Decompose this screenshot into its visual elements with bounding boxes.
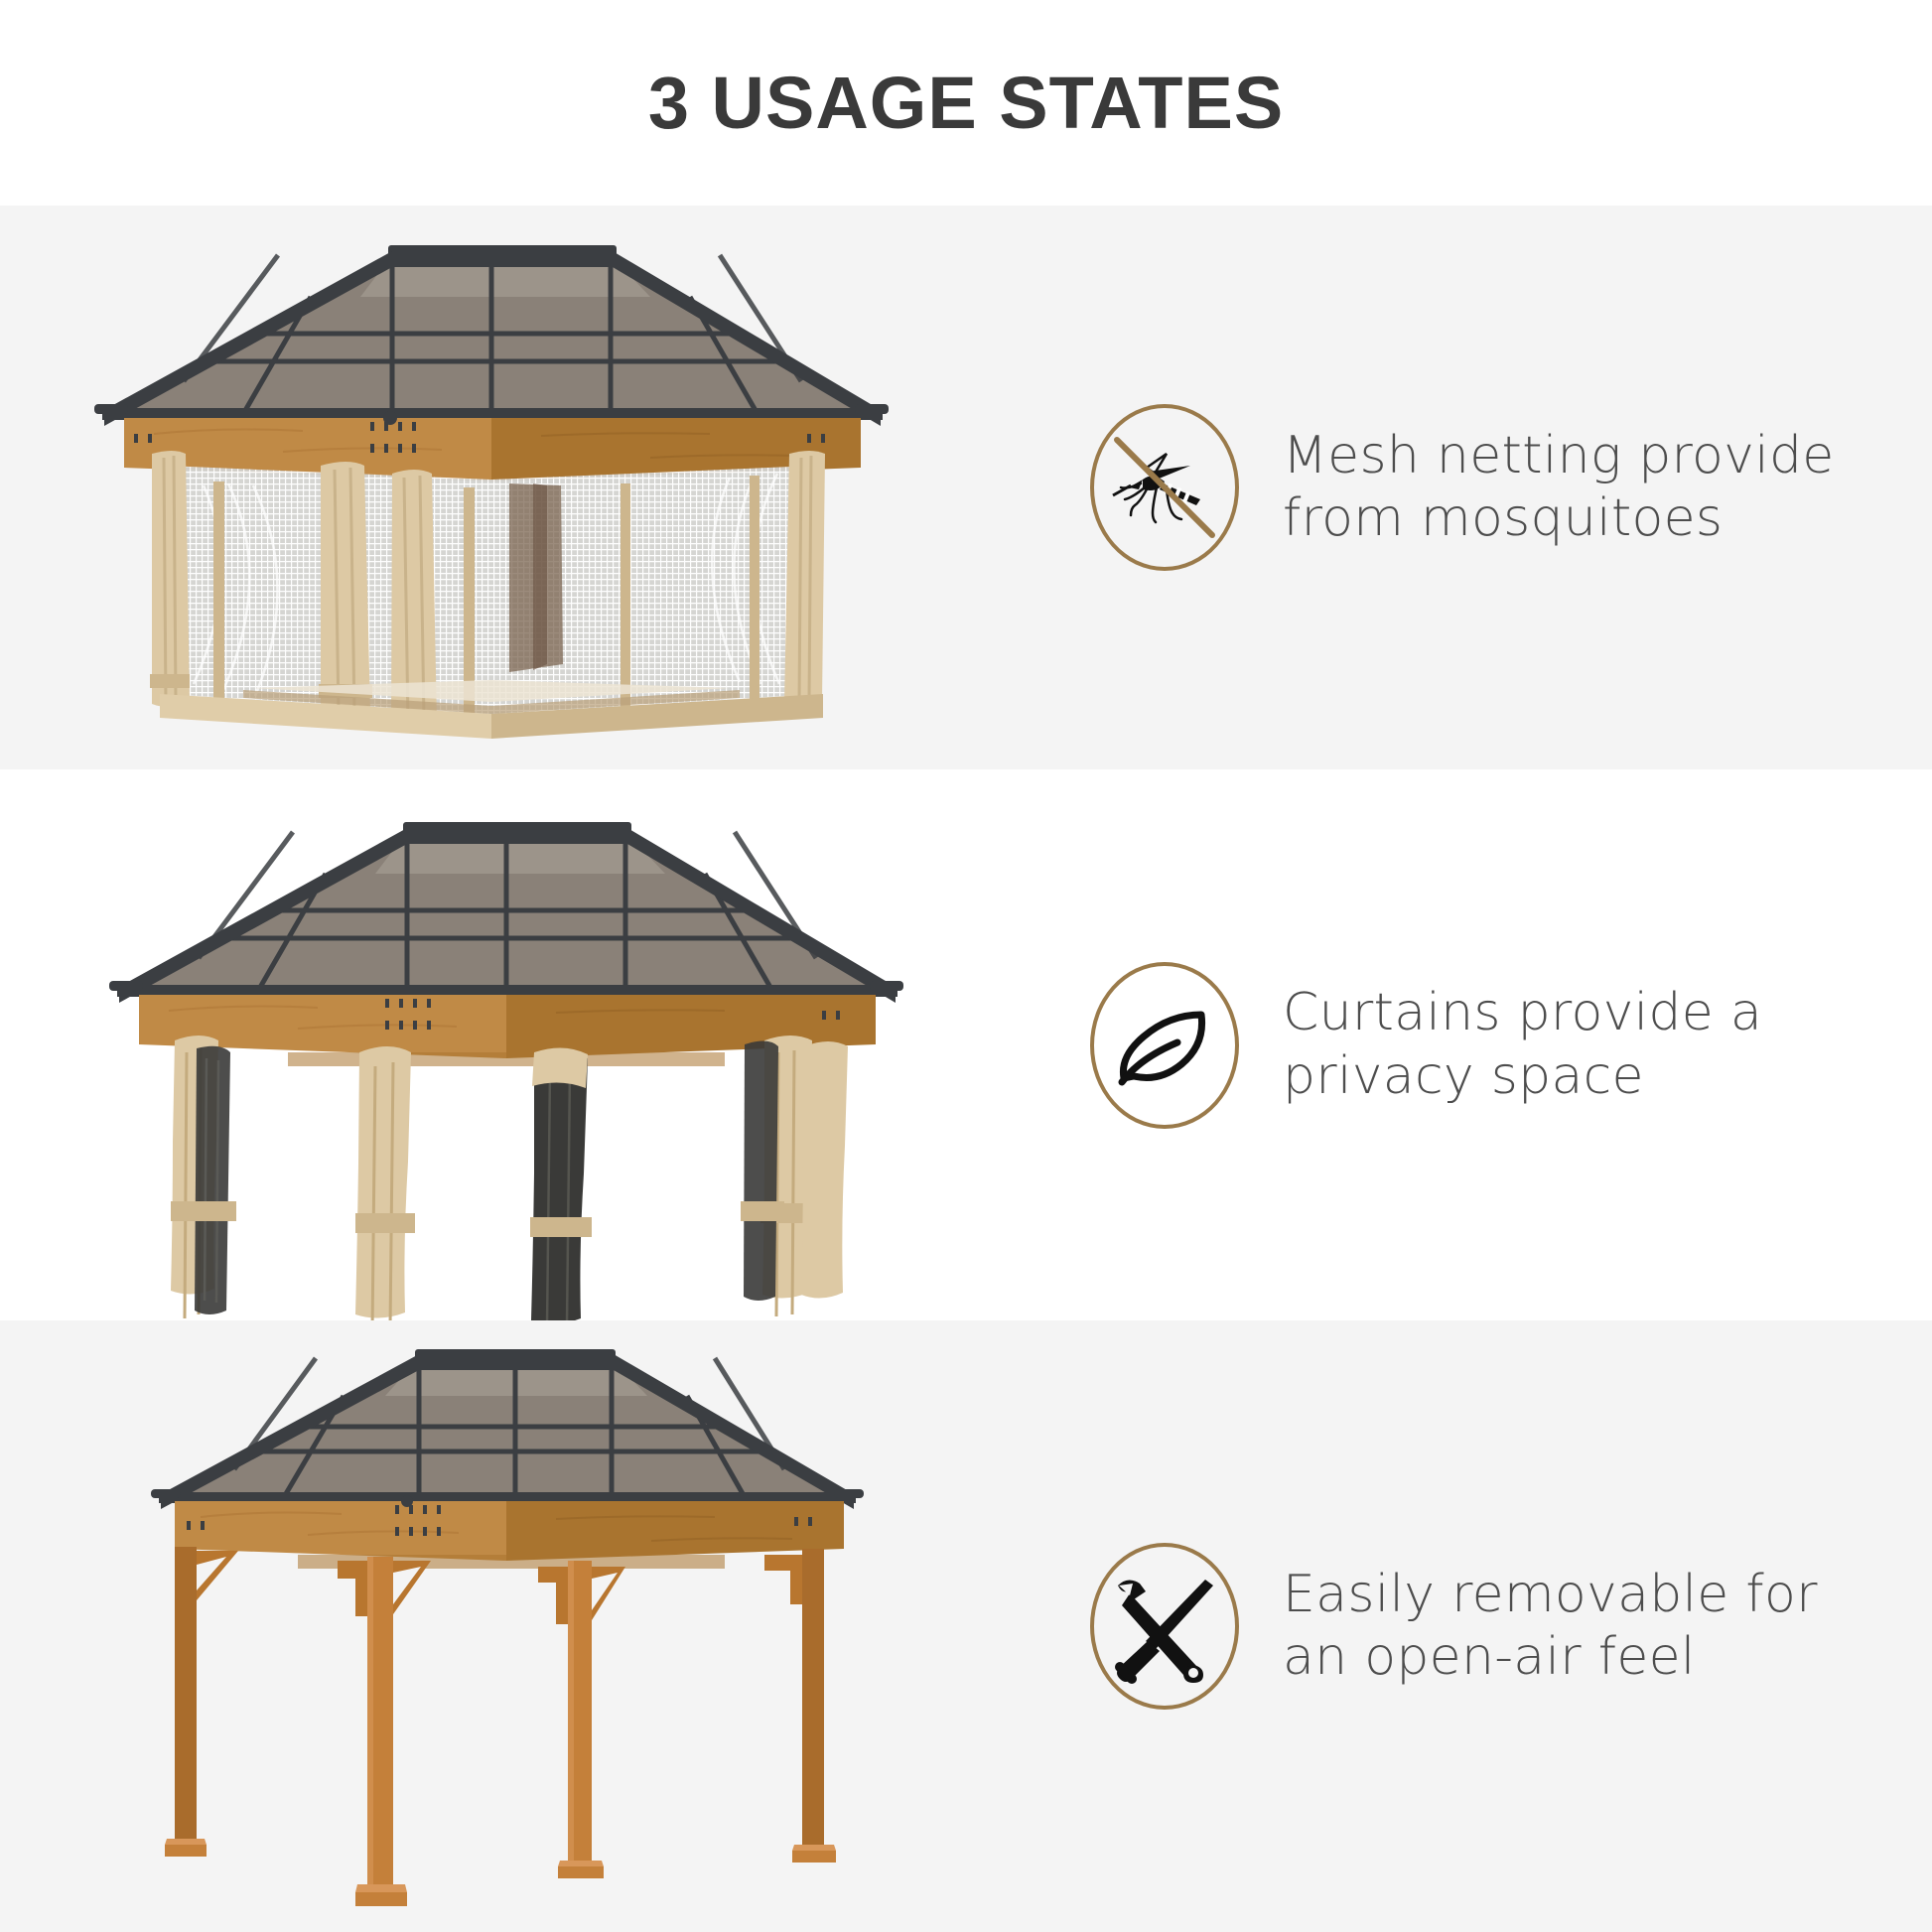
wood-posts bbox=[165, 1547, 836, 1906]
infographic-page: 3 USAGE STATES bbox=[0, 0, 1932, 1932]
product-image-curtains bbox=[0, 769, 1072, 1320]
panel-curtains: Curtains provide a privacy space bbox=[0, 769, 1932, 1320]
feature-block-curtains: Curtains provide a privacy space bbox=[1072, 769, 1932, 1320]
feature-line-1: Mesh netting provide bbox=[1283, 426, 1835, 485]
leaf-icon bbox=[1090, 962, 1239, 1129]
roof bbox=[151, 1349, 864, 1509]
feature-block-open-air: Easily removable for an open-air feel bbox=[1072, 1320, 1932, 1932]
feature-curtains: Curtains provide a privacy space bbox=[1072, 962, 1762, 1129]
product-image-open-air bbox=[0, 1320, 1072, 1932]
feature-text-open-air: Easily removable for an open-air feel bbox=[1283, 1564, 1818, 1690]
page-title: 3 USAGE STATES bbox=[648, 67, 1284, 140]
panel-mesh-netting: Mesh netting provide from mosquitoes bbox=[0, 206, 1932, 769]
wood-beam bbox=[175, 1495, 844, 1569]
feature-text-mesh: Mesh netting provide from mosquitoes bbox=[1283, 425, 1835, 551]
feature-line-2: from mosquitoes bbox=[1283, 487, 1835, 550]
panel-open-air: Easily removable for an open-air feel bbox=[0, 1320, 1932, 1932]
feature-text-curtains: Curtains provide a privacy space bbox=[1283, 982, 1762, 1108]
roof bbox=[94, 245, 889, 444]
mesh-netting-walls bbox=[166, 466, 815, 714]
tools-icon bbox=[1090, 1543, 1239, 1710]
feature-line-2: privacy space bbox=[1283, 1045, 1762, 1108]
roof bbox=[109, 822, 903, 1003]
feature-open-air: Easily removable for an open-air feel bbox=[1072, 1543, 1818, 1710]
no-mosquito-icon bbox=[1090, 404, 1239, 571]
header: 3 USAGE STATES bbox=[0, 0, 1932, 206]
feature-line-1: Easily removable for bbox=[1283, 1565, 1818, 1624]
gazebo-illustration-bare bbox=[109, 1330, 903, 1926]
feature-line-2: an open-air feel bbox=[1283, 1626, 1818, 1689]
feature-mesh-netting: Mesh netting provide from mosquitoes bbox=[1072, 404, 1835, 571]
product-image-mesh-netting bbox=[0, 206, 1072, 769]
feature-line-1: Curtains provide a bbox=[1283, 983, 1762, 1042]
curtain-bundles bbox=[171, 1035, 848, 1332]
feature-block-mesh: Mesh netting provide from mosquitoes bbox=[1072, 206, 1932, 769]
gazebo-illustration-curtains bbox=[109, 725, 903, 1360]
gazebo-illustration-mesh bbox=[94, 198, 889, 783]
